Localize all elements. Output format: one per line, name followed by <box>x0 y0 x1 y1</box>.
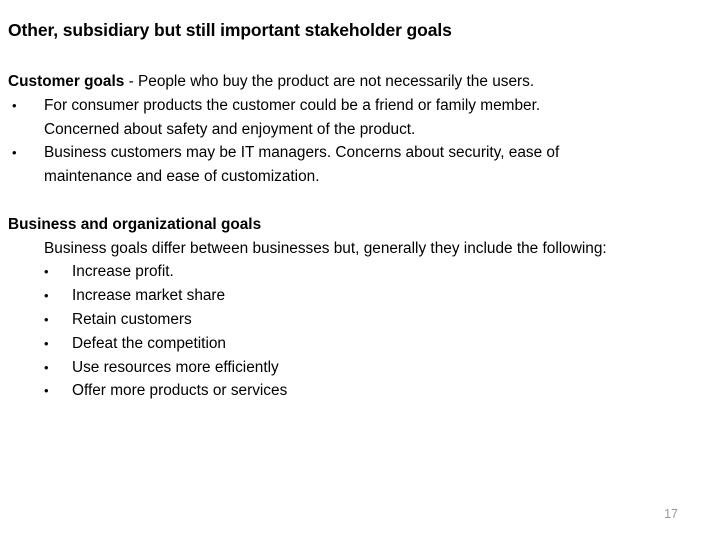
bullet-icon: • <box>44 332 72 356</box>
list-item-label: Use resources more efficiently <box>72 356 718 380</box>
customer-goals-heading: Customer goals <box>8 73 124 90</box>
list-item-label: Offer more products or services <box>72 379 718 403</box>
list-item: • Business customers may be IT managers.… <box>8 141 718 165</box>
list-item-label: For consumer products the customer could… <box>44 94 718 118</box>
business-goals-intro: Business goals differ between businesses… <box>8 237 718 261</box>
bullet-icon: • <box>12 94 44 118</box>
section-business-goals: Business and organizational goals Busine… <box>8 213 718 403</box>
list-item: • Retain customers <box>8 308 718 332</box>
slide-body: Customer goals - People who buy the prod… <box>8 70 718 403</box>
list-item-label: Increase market share <box>72 284 718 308</box>
list-item: • Increase profit. <box>8 260 718 284</box>
list-item: • For consumer products the customer cou… <box>8 94 718 118</box>
list-item: • Increase market share <box>8 284 718 308</box>
customer-goals-lead: Customer goals - People who buy the prod… <box>8 70 718 94</box>
bullet-icon: • <box>12 141 44 165</box>
list-item-label: Business customers may be IT managers. C… <box>44 141 718 165</box>
bullet-icon: • <box>44 260 72 284</box>
list-item-label: Increase profit. <box>72 260 718 284</box>
list-item-label: Retain customers <box>72 308 718 332</box>
business-goals-heading: Business and organizational goals <box>8 216 261 233</box>
list-item: • Use resources more efficiently <box>8 356 718 380</box>
list-item: • Defeat the competition <box>8 332 718 356</box>
slide-canvas: Other, subsidiary but still important st… <box>0 0 720 540</box>
list-item-label: Defeat the competition <box>72 332 718 356</box>
page-number: 17 <box>664 506 678 522</box>
list-item: • Offer more products or services <box>8 379 718 403</box>
customer-goals-heading-rest: - People who buy the product are not nec… <box>124 73 534 90</box>
list-item-continuation: Concerned about safety and enjoyment of … <box>8 118 718 142</box>
bullet-icon: • <box>44 308 72 332</box>
business-goals-lead: Business and organizational goals <box>8 213 718 237</box>
section-divider-space <box>8 189 718 213</box>
bullet-icon: • <box>44 379 72 403</box>
bullet-icon: • <box>44 356 72 380</box>
bullet-icon: • <box>44 284 72 308</box>
section-customer-goals: Customer goals - People who buy the prod… <box>8 70 718 189</box>
page-title: Other, subsidiary but still important st… <box>8 19 712 41</box>
list-item-continuation: maintenance and ease of customization. <box>8 165 718 189</box>
